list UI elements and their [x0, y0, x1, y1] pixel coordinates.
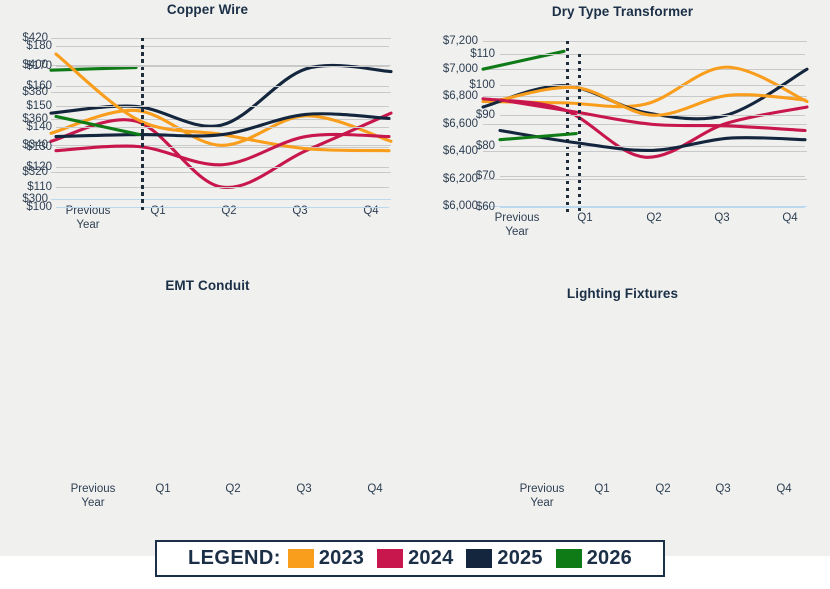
chart-panel-lighting-fixtures[interactable]: Lighting Fixtures$110$100$90$80$70$60Pre…: [415, 270, 830, 535]
legend-item-2023: 2023: [288, 547, 364, 570]
legend-swatch-2023: [288, 549, 314, 568]
legend-label-2023: 2023: [319, 547, 364, 570]
y-axis-tick-label: $100: [26, 201, 52, 213]
x-axis-tick-label: PreviousYear: [520, 482, 565, 510]
x-axis-tick-line: Q4: [367, 482, 382, 496]
x-axis-tick-line: Previous: [71, 482, 116, 496]
x-axis-tick-label: Q3: [715, 482, 730, 496]
x-axis-tick-label: Q4: [367, 482, 382, 496]
x-axis-tick-label: Q2: [655, 482, 670, 496]
plot-area: [56, 46, 389, 207]
x-axis-tick-line: Previous: [495, 211, 540, 225]
legend-label-2026: 2026: [587, 547, 632, 570]
legend-item-2026: 2026: [556, 547, 632, 570]
series-layer: [56, 46, 389, 207]
x-axis-tick-line: Q1: [155, 482, 170, 496]
x-axis-tick-label: Q3: [714, 211, 729, 225]
x-axis-tick-label: Q2: [646, 211, 661, 225]
x-axis-tick-label: PreviousYear: [495, 211, 540, 239]
series-line-2023: [500, 87, 805, 115]
y-axis-tick-label: $100: [469, 79, 495, 91]
x-axis-tick-line: Q3: [296, 482, 311, 496]
y-axis-tick-label: $6,200: [443, 173, 478, 185]
y-axis-tick-label: $140: [26, 121, 52, 133]
x-axis-tick-line: Q1: [594, 482, 609, 496]
x-axis-line: [56, 207, 389, 208]
x-axis-tick-line: Q2: [655, 482, 670, 496]
y-axis-tick-label: $80: [476, 140, 495, 152]
series-line-2026: [56, 116, 139, 134]
x-axis-tick-line: Q4: [782, 211, 797, 225]
forecast-divider-line: [141, 46, 144, 213]
y-axis-tick-label: $6,600: [443, 118, 478, 130]
series-line-2025: [500, 131, 805, 151]
legend-label-2024: 2024: [408, 547, 453, 570]
legend-item-2025: 2025: [466, 547, 542, 570]
series-layer: [500, 54, 805, 207]
y-axis-tick-label: $6,800: [443, 90, 478, 102]
y-axis-tick-label: $130: [26, 141, 52, 153]
y-axis-tick-label: $90: [476, 109, 495, 121]
x-axis-tick-line: Q3: [714, 211, 729, 225]
y-axis-tick-label: $150: [26, 100, 52, 112]
chart-title: Copper Wire: [0, 2, 415, 17]
legend-title: LEGEND:: [188, 547, 281, 570]
legend-swatch-2025: [466, 549, 492, 568]
x-axis-tick-label: Q1: [577, 211, 592, 225]
x-axis-tick-line: Year: [520, 496, 565, 510]
forecast-divider-line: [578, 54, 581, 213]
chart-title: Lighting Fixtures: [415, 286, 830, 301]
x-axis-tick-line: Previous: [520, 482, 565, 496]
chart-title: Dry Type Transformer: [415, 4, 830, 19]
slide-canvas: Copper Wire$420$400$380$360$340$320$300P…: [0, 0, 830, 589]
chart-panel-emt-conduit[interactable]: EMT Conduit$180$170$160$150$140$130$120$…: [0, 270, 415, 535]
y-axis-tick-label: $7,200: [443, 35, 478, 47]
legend-swatch-2024: [377, 549, 403, 568]
y-axis-tick-label: $120: [26, 161, 52, 173]
legend-item-2024: 2024: [377, 547, 453, 570]
x-axis-tick-line: Q2: [646, 211, 661, 225]
x-axis-tick-line: Year: [71, 496, 116, 510]
x-axis-line: [500, 207, 805, 208]
x-axis-tick-line: Year: [66, 218, 111, 232]
x-axis-tick-label: Q3: [296, 482, 311, 496]
legend-items: 2023202420252026: [288, 547, 632, 570]
x-axis-tick-line: Q1: [577, 211, 592, 225]
x-axis-tick-line: Q4: [776, 482, 791, 496]
x-axis-tick-label: Q4: [776, 482, 791, 496]
y-axis-tick-label: $180: [26, 40, 52, 52]
y-axis-tick-label: $170: [26, 60, 52, 72]
x-axis-tick-label: Q1: [155, 482, 170, 496]
series-line-2026: [500, 134, 576, 140]
y-axis-tick-label: $60: [476, 201, 495, 213]
y-axis-tick-label: $160: [26, 80, 52, 92]
legend-swatch-2026: [556, 549, 582, 568]
plot-area: [500, 54, 805, 207]
x-axis-tick-label: Q1: [594, 482, 609, 496]
x-axis-tick-line: Q3: [715, 482, 730, 496]
y-axis-tick-label: $6,000: [443, 200, 478, 212]
legend-label-2025: 2025: [497, 547, 542, 570]
x-axis-tick-line: Q2: [225, 482, 240, 496]
x-axis-tick-label: PreviousYear: [71, 482, 116, 510]
x-axis-tick-line: Year: [495, 225, 540, 239]
x-axis-tick-label: Q2: [225, 482, 240, 496]
x-axis-tick-label: Q4: [782, 211, 797, 225]
y-axis-tick-label: $110: [470, 48, 495, 60]
x-axis-tick-label: PreviousYear: [66, 204, 111, 232]
y-axis-tick-label: $7,000: [443, 63, 478, 75]
legend: LEGEND: 2023202420252026: [155, 540, 665, 577]
chart-title: EMT Conduit: [0, 278, 415, 293]
y-axis-tick-label: $110: [27, 181, 52, 193]
y-axis-tick-label: $6,400: [443, 145, 478, 157]
y-axis-tick-label: $70: [476, 170, 495, 182]
